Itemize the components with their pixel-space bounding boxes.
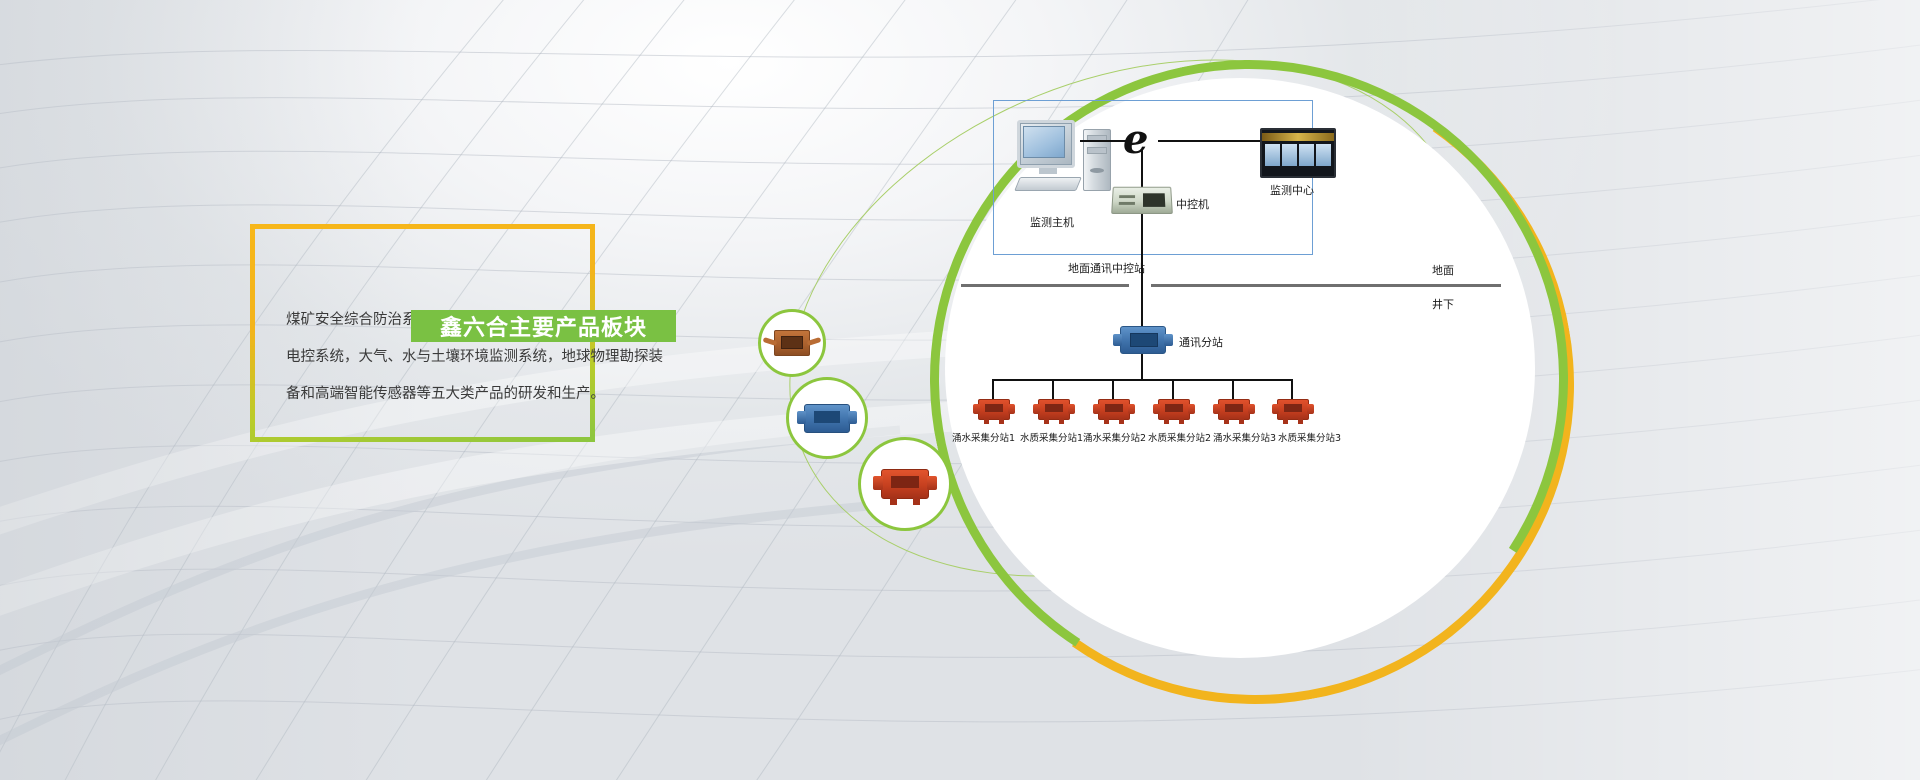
system-topology-diagram: 监测主机 监测中心 e 中控机 地面通讯中控站 地面 井 [945,78,1535,658]
wire-drop-1 [992,379,994,401]
wire-eth-to-center [1158,140,1260,142]
monitor-host-icon [1017,120,1111,191]
central-control-icon [1112,186,1172,214]
station-label-1: 涌水采集分站1 [952,430,1015,444]
description-line-3: 备和高端智能传感器等五大类产品的研发和生产。 [286,376,706,413]
wire-drop-2 [1052,379,1054,401]
pc-tower-icon [1083,129,1111,191]
ground-comm-station-label: 地面通讯中控站 [1068,260,1145,276]
wire-drop-4 [1172,379,1174,401]
station-label-6: 水质采集分站3 [1278,430,1341,444]
wire-drop-6 [1291,379,1293,401]
station-label-3: 涌水采集分站2 [1083,430,1146,444]
wire-host-to-eth [1080,140,1128,142]
station-icon-4 [1158,399,1190,420]
crt-monitor-icon [1017,120,1075,168]
ground-divider-right [1151,284,1501,287]
underground-zone-label: 井下 [1432,296,1454,312]
station-icon-6 [1277,399,1309,420]
product-bubble-red [858,437,952,531]
wire-drop-5 [1232,379,1234,401]
monitor-host-label: 监测主机 [1030,214,1074,230]
right-illustration: 监测主机 监测中心 e 中控机 地面通讯中控站 地面 井 [740,0,1920,780]
monitor-center-icon [1260,128,1336,178]
station-label-5: 涌水采集分站3 [1213,430,1276,444]
station-icon-5 [1218,399,1250,420]
surface-zone-label: 地面 [1432,262,1454,278]
wire-station-bus [992,379,1292,381]
keyboard-icon [1014,177,1082,191]
wire-substation-trunk [1141,354,1143,380]
description-line-2: 电控系统，大气、水与土壤环境监测系统，地球物理勘探装 [286,339,706,376]
station-label-2: 水质采集分站1 [1020,430,1083,444]
station-icon-1 [978,399,1010,420]
monitor-center-label: 监测中心 [1270,182,1314,198]
video-wall-icon [1260,128,1336,178]
section-title-banner: 鑫六合主要产品板块 [411,310,676,342]
station-icon-3 [1098,399,1130,420]
product-bubble-blue [786,377,868,459]
station-icon-2 [1038,399,1070,420]
central-control-label: 中控机 [1176,196,1209,212]
comm-substation-label: 通讯分站 [1179,334,1223,350]
wire-drop-3 [1112,379,1114,401]
page-title: 鑫六合主要产品板块 [440,310,647,342]
rack-server-icon [1111,187,1173,214]
product-bubble-brown [758,309,826,377]
wire-server-to-substation [1141,214,1143,326]
wire-eth-to-server [1141,150,1143,188]
comm-substation-icon [1120,326,1166,354]
brown-controller-icon [774,330,810,356]
station-label-4: 水质采集分站2 [1148,430,1211,444]
ground-divider-left [961,284,1129,287]
blue-substation-icon [804,404,850,433]
red-substation-icon [881,469,929,499]
